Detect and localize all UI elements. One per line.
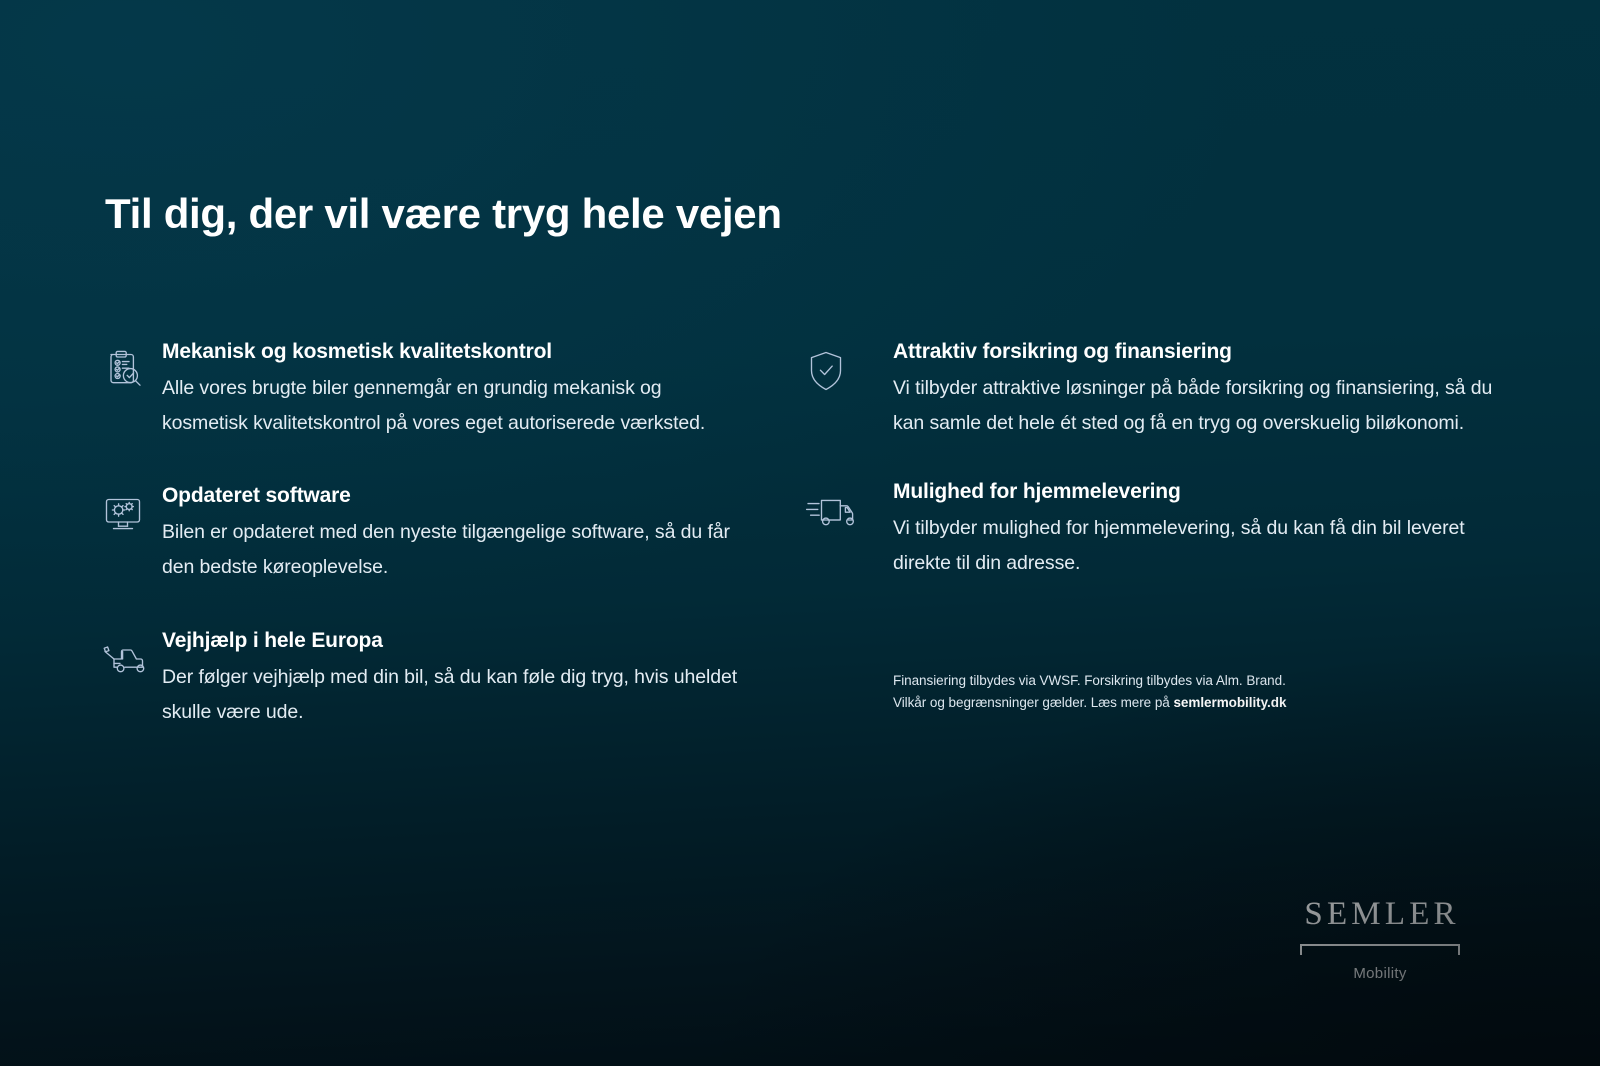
feature-item-updated-software: Opdateret software Bilen er opdateret me… [100, 484, 740, 584]
shield-check-icon [805, 340, 893, 392]
semler-mobility-logo: SEMLER Mobility [1300, 898, 1460, 982]
feature-title: Attraktiv forsikring og finansiering [893, 340, 1505, 364]
feature-item-roadside-assistance: Vejhjælp i hele Europa Der følger vejhjæ… [100, 629, 740, 729]
feature-item-insurance-financing: Attraktiv forsikring og finansiering Vi … [805, 340, 1505, 440]
disclaimer-text: Finansiering tilbydes via VWSF. Forsikri… [893, 670, 1413, 714]
logo-subtitle: Mobility [1300, 965, 1460, 982]
disclaimer-line-2-prefix: Vilkår og begrænsninger gælder. Læs mere… [893, 695, 1173, 710]
delivery-truck-icon [805, 480, 893, 532]
feature-item-home-delivery: Mulighed for hjemmelevering Vi tilbyder … [805, 480, 1505, 580]
clipboard-checklist-magnifier-icon [100, 340, 162, 392]
logo-rule-tick-right [1458, 944, 1460, 955]
disclaimer-website-link[interactable]: semlermobility.dk [1173, 695, 1286, 710]
feature-title: Mulighed for hjemmelevering [893, 480, 1505, 504]
features-column-left: Mekanisk og kosmetisk kvalitetskontrol A… [100, 340, 740, 765]
logo-rule-tick-left [1300, 944, 1302, 955]
feature-title: Vejhjælp i hele Europa [162, 629, 740, 653]
feature-description: Der følger vejhjælp med din bil, så du k… [162, 660, 740, 729]
feature-description: Bilen er opdateret med den nyeste tilgæn… [162, 515, 740, 584]
feature-description: Vi tilbyder mulighed for hjemmelevering,… [893, 511, 1505, 580]
poster-background: Til dig, der vil være tryg hele vejen [0, 0, 1600, 1066]
logo-divider-rule [1300, 944, 1460, 956]
page-title: Til dig, der vil være tryg hele vejen [105, 190, 782, 238]
tow-truck-icon [100, 629, 162, 681]
feature-description: Alle vores brugte biler gennemgår en gru… [162, 371, 740, 440]
disclaimer-line-1: Finansiering tilbydes via VWSF. Forsikri… [893, 673, 1286, 688]
logo-wordmark: SEMLER [1300, 898, 1460, 931]
feature-title: Opdateret software [162, 484, 740, 508]
poster-content: Til dig, der vil være tryg hele vejen [0, 0, 1600, 1066]
feature-item-quality-control: Mekanisk og kosmetisk kvalitetskontrol A… [100, 340, 740, 440]
feature-description: Vi tilbyder attraktive løsninger på både… [893, 371, 1505, 440]
features-column-right: Attraktiv forsikring og finansiering Vi … [805, 340, 1505, 617]
feature-title: Mekanisk og kosmetisk kvalitetskontrol [162, 340, 740, 364]
logo-rule-bar [1300, 944, 1460, 946]
monitor-gears-icon [100, 484, 162, 536]
